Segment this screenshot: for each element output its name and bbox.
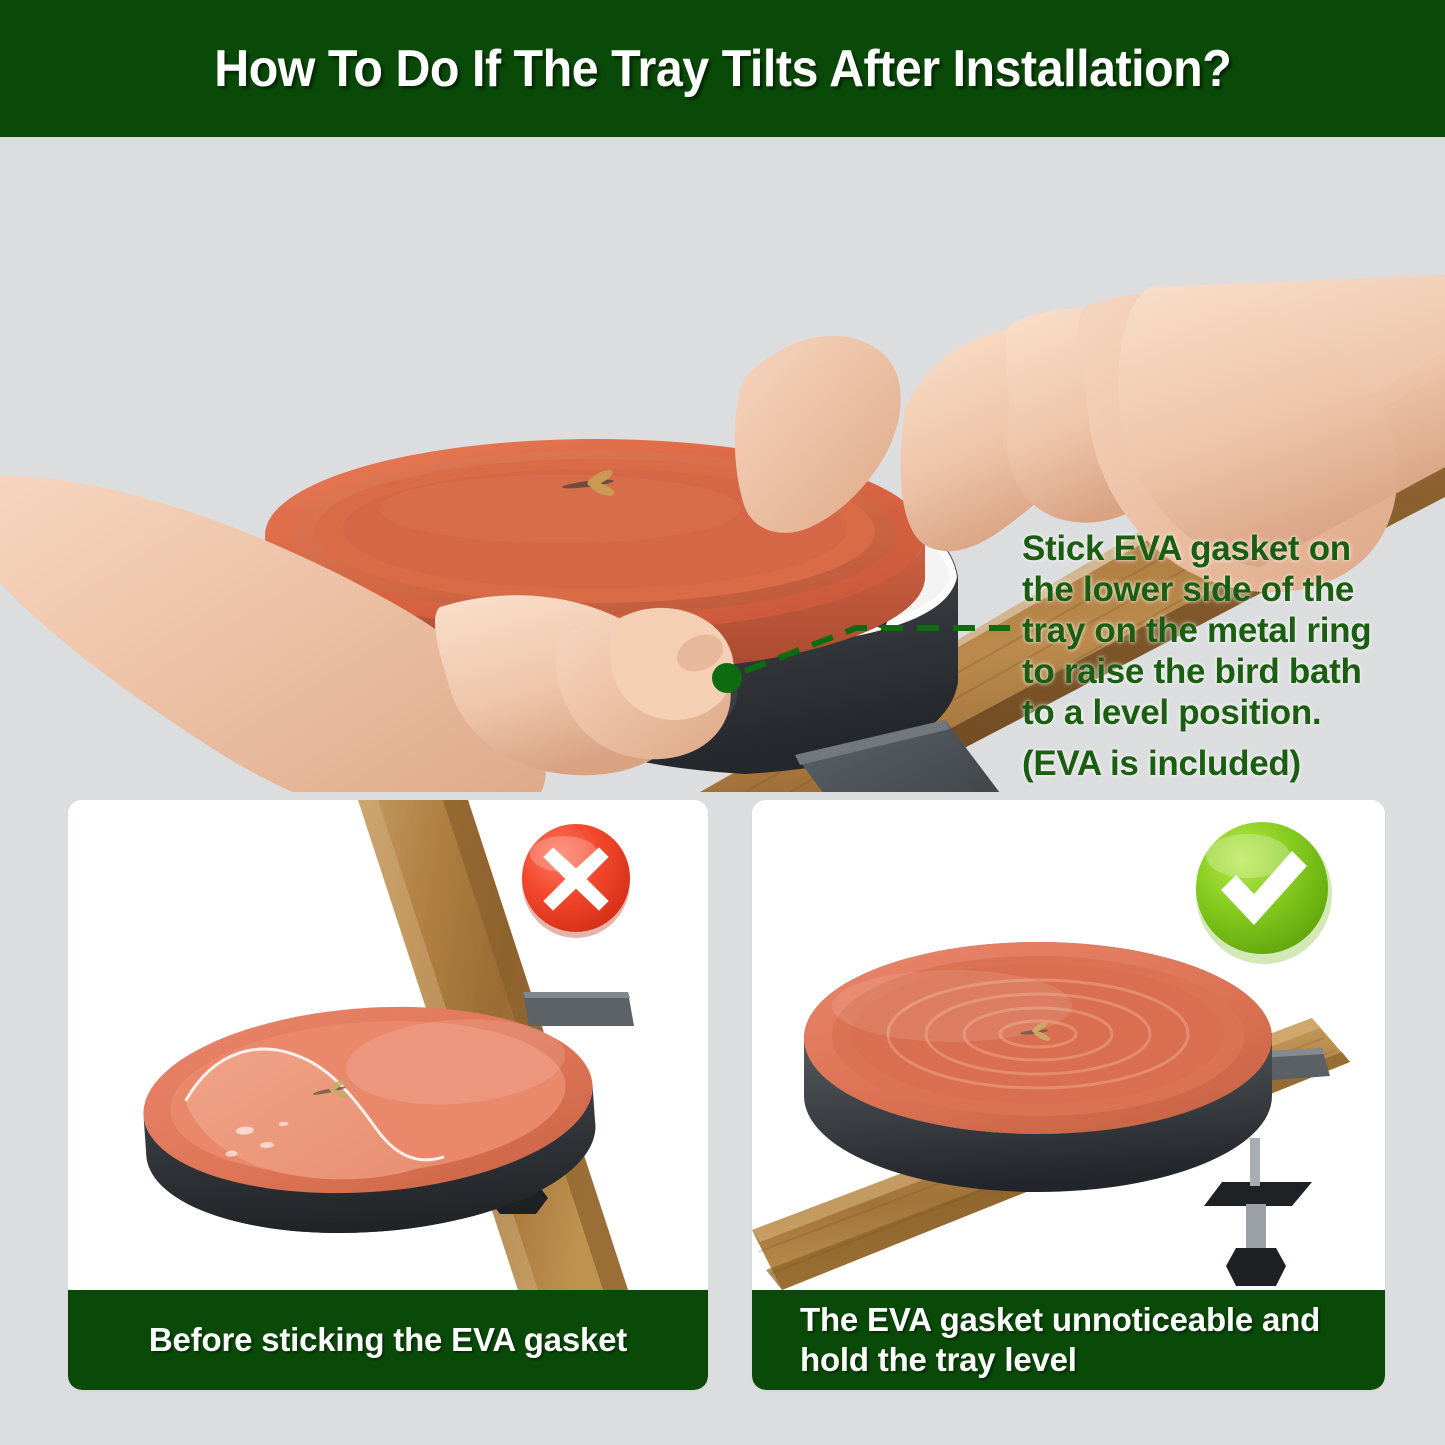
infographic-page: How To Do If The Tray Tilts After Instal…: [0, 0, 1445, 1445]
annotation-main-text: Stick EVA gasket on the lower side of th…: [1022, 529, 1371, 732]
header-bar: How To Do If The Tray Tilts After Instal…: [0, 0, 1445, 137]
caption-before: Before sticking the EVA gasket: [68, 1290, 708, 1390]
page-title: How To Do If The Tray Tilts After Instal…: [214, 39, 1231, 99]
level-tray-illustration: [752, 800, 1385, 1290]
hero-photo: Stick EVA gasket on the lower side of th…: [0, 137, 1445, 792]
caption-before-text: Before sticking the EVA gasket: [149, 1320, 627, 1360]
hero-annotation: Stick EVA gasket on the lower side of th…: [1022, 529, 1394, 785]
level-tray: [804, 942, 1272, 1192]
caption-after-text: The EVA gasket unnoticeable and hold the…: [800, 1300, 1385, 1381]
panel-before-photo: [68, 800, 708, 1290]
caption-after: The EVA gasket unnoticeable and hold the…: [752, 1290, 1385, 1390]
annotation-note-text: (EVA is included): [1022, 744, 1394, 785]
tilted-tray-illustration: [68, 800, 708, 1290]
panel-before: Before sticking the EVA gasket: [68, 800, 708, 1390]
panel-after: The EVA gasket unnoticeable and hold the…: [752, 800, 1385, 1390]
eva-gasket-tab: [523, 992, 634, 1026]
x-icon: [522, 824, 630, 938]
panel-after-photo: [752, 800, 1385, 1290]
